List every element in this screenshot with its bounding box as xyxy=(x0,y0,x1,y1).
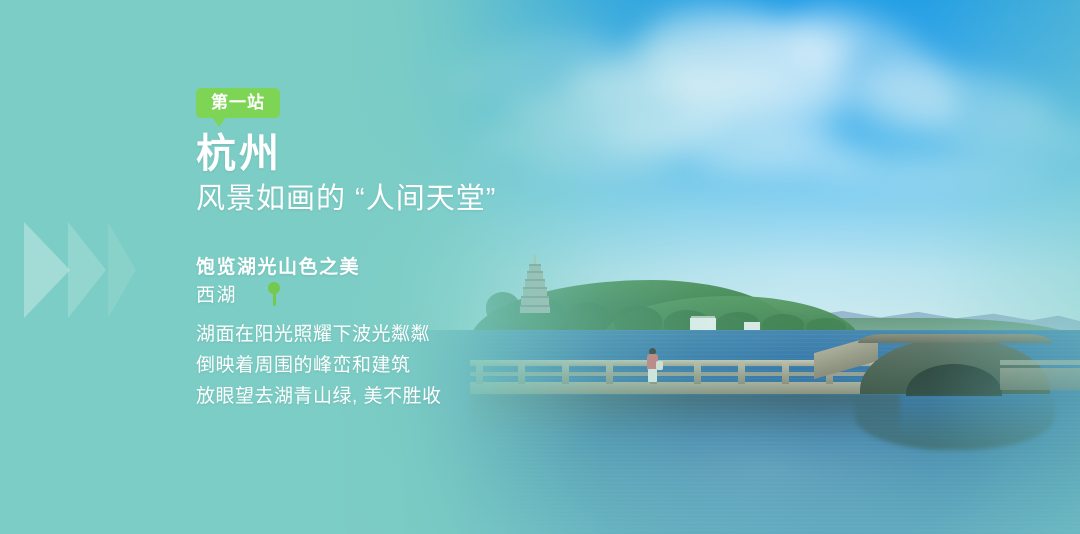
spot-name: 西湖 xyxy=(196,280,237,307)
description-line: 湖面在阳光照耀下波光粼粼 xyxy=(196,320,442,351)
chevron-right-icon xyxy=(68,222,106,318)
stop-badge-wrapper: 第一站 xyxy=(196,88,280,118)
chevron-right-icon xyxy=(24,222,70,318)
stop-badge[interactable]: 第一站 xyxy=(196,88,280,118)
teal-right-fade xyxy=(820,0,1080,534)
description-line: 放眼望去湖青山绿, 美不胜收 xyxy=(196,382,442,413)
chevron-right-icon xyxy=(108,222,136,318)
spot-headline: 饱览湖光山色之美 xyxy=(196,252,360,279)
city-tagline: 风景如画的 “人间天堂” xyxy=(196,181,496,217)
description-line: 倒映着周围的峰峦和建筑 xyxy=(196,351,442,382)
city-title: 杭州 xyxy=(196,132,282,176)
banner-content: 第一站 杭州 风景如画的 “人间天堂” 饱览湖光山色之美 西湖 湖面在阳光照耀下… xyxy=(196,0,616,534)
travel-banner: 第一站 杭州 风景如画的 “人间天堂” 饱览湖光山色之美 西湖 湖面在阳光照耀下… xyxy=(0,0,1080,534)
spot-name-row: 西湖 xyxy=(196,280,281,307)
spot-description: 湖面在阳光照耀下波光粼粼 倒映着周围的峰峦和建筑 放眼望去湖青山绿, 美不胜收 xyxy=(196,320,442,412)
chevron-arrow-group xyxy=(24,222,154,318)
stop-badge-tail xyxy=(212,117,226,127)
location-pin-stem xyxy=(273,291,276,306)
location-pin-icon xyxy=(267,282,281,306)
